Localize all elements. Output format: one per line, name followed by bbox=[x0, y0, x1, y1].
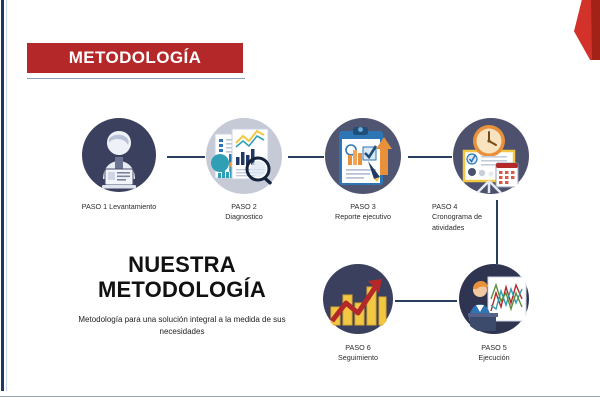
connector-6-5 bbox=[395, 300, 457, 302]
page-title-banner: METODOLOGÍA bbox=[27, 43, 243, 73]
brand-tagline: Metodología para una solución integral a… bbox=[58, 314, 306, 339]
step-node-paso-4[interactable]: PASO 4 Cronograma de atividades bbox=[452, 117, 530, 195]
left-accent-bar bbox=[1, 0, 4, 391]
brand-heading-line1: NUESTRA bbox=[58, 252, 306, 277]
step-node-paso-3[interactable]: PASO 3 Reporte ejecutivo bbox=[324, 117, 402, 195]
step-label-paso-6: PASO 6 Seguimiento bbox=[308, 343, 408, 364]
step-label-paso-5: PASO 5 Ejecución bbox=[444, 343, 544, 364]
title-underline bbox=[27, 78, 245, 79]
bottom-divider bbox=[0, 396, 600, 397]
connector-2-3 bbox=[288, 156, 324, 158]
brand-heading-block: NUESTRA METODOLOGÍA Metodología para una… bbox=[58, 252, 306, 338]
connector-3-4 bbox=[408, 156, 452, 158]
step-label-paso-2: PASO 2 Diagnostico bbox=[197, 202, 291, 223]
charts-documents-magnifier-icon bbox=[205, 117, 283, 195]
growth-bars-arrow-icon bbox=[322, 263, 394, 335]
presenter-podium-chart-icon bbox=[458, 263, 530, 335]
step-node-paso-6[interactable]: PASO 6 Seguimiento bbox=[322, 263, 394, 335]
connector-1-2 bbox=[167, 156, 205, 158]
person-at-computer-icon bbox=[81, 117, 157, 193]
step-label-paso-1: PASO 1 Levantamiento bbox=[65, 202, 173, 212]
step-node-paso-2[interactable]: PASO 2 Diagnostico bbox=[205, 117, 283, 195]
brand-heading-line2: METODOLOGÍA bbox=[58, 277, 306, 302]
step-label-paso-3: PASO 3 Reporte ejecutivo bbox=[312, 202, 414, 223]
step-node-paso-5[interactable]: PASO 5 Ejecución bbox=[458, 263, 530, 335]
corner-chevron-shadow bbox=[591, 0, 600, 60]
clipboard-report-arrow-icon bbox=[324, 117, 402, 195]
clock-calendar-board-icon bbox=[452, 117, 530, 195]
step-node-paso-1[interactable]: PASO 1 Levantamiento bbox=[81, 117, 157, 193]
slide-canvas: METODOLOGÍA bbox=[0, 0, 600, 400]
step-label-paso-4: PASO 4 Cronograma de atividades bbox=[432, 202, 506, 233]
left-accent-bar-secondary bbox=[6, 0, 7, 391]
corner-chevron-icon bbox=[574, 0, 600, 60]
page-title: METODOLOGÍA bbox=[69, 48, 202, 68]
